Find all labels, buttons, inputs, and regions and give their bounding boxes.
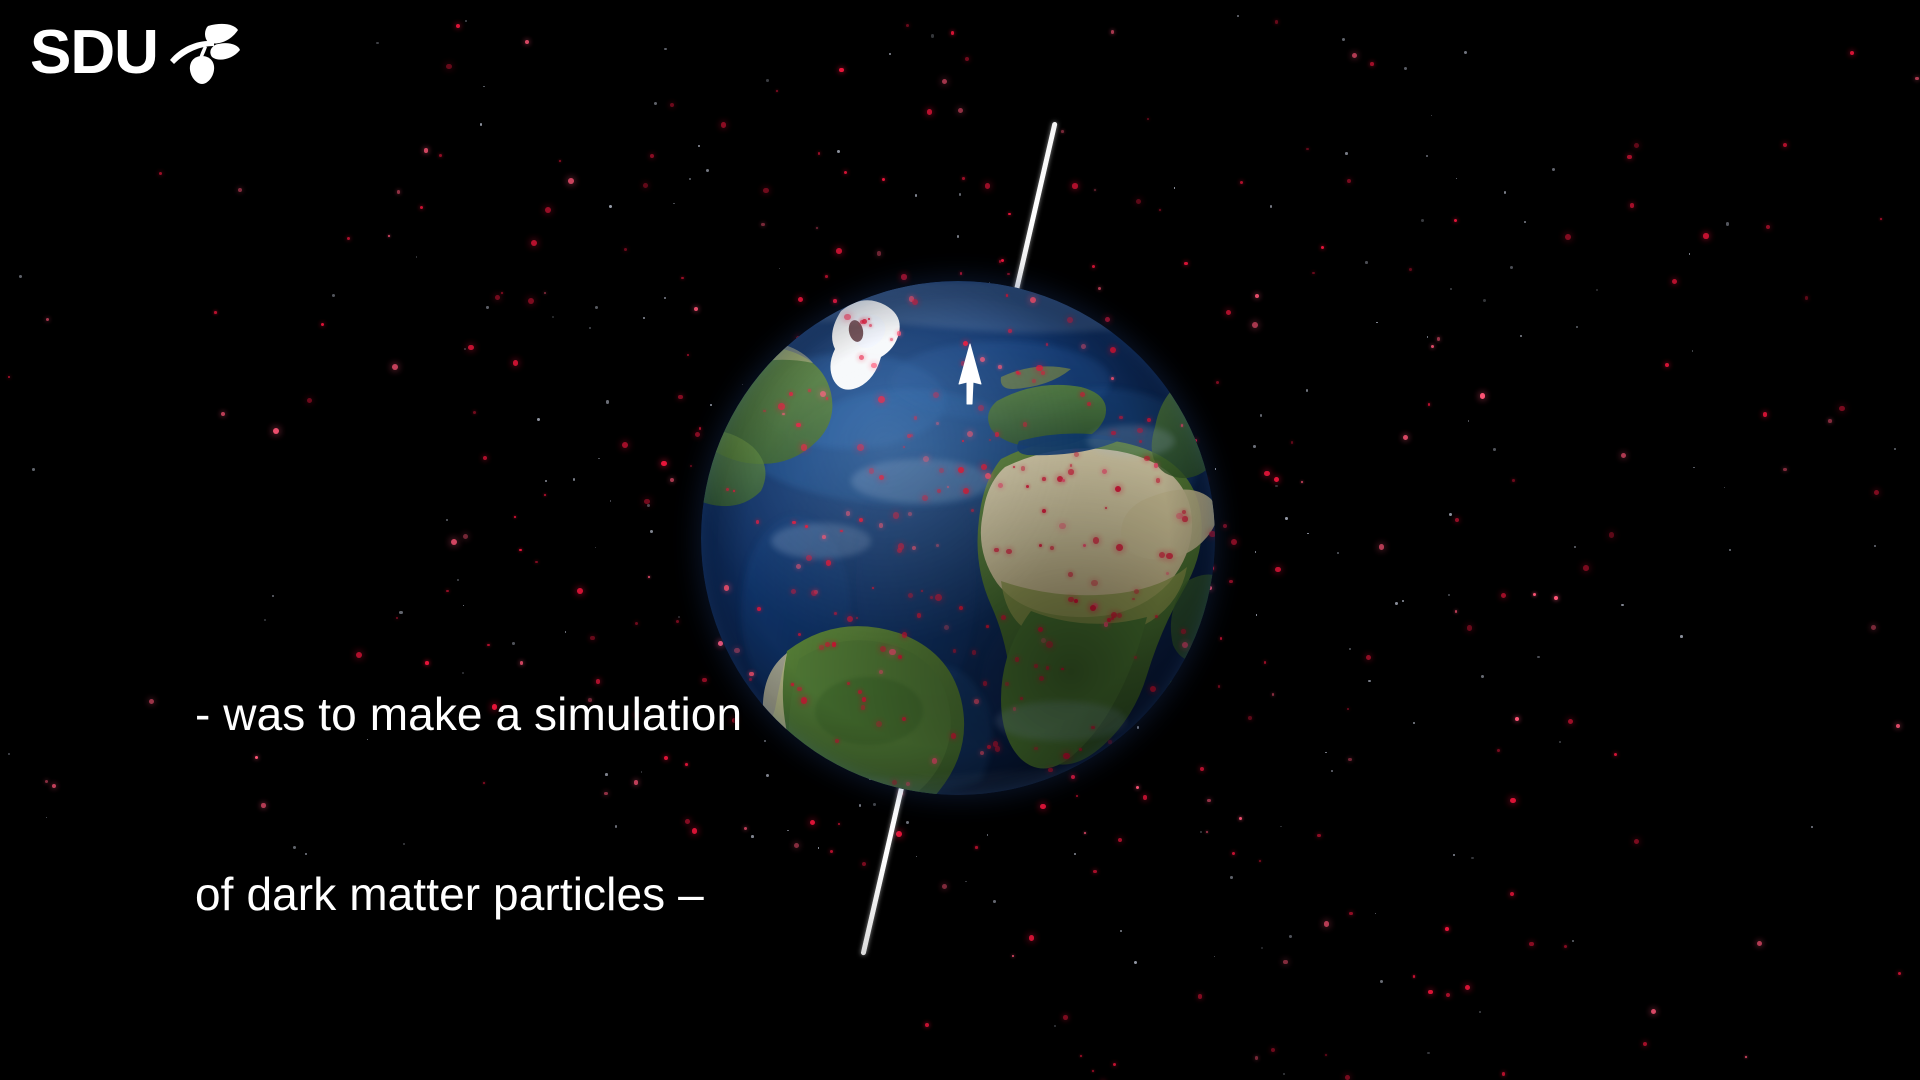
star-dot (332, 294, 335, 297)
star-dot (1552, 168, 1555, 171)
star-dot (1427, 1052, 1429, 1054)
star-dot (664, 48, 667, 51)
dark-matter-particle (388, 235, 390, 237)
dark-matter-particle (1061, 130, 1064, 133)
star-dot (1280, 826, 1282, 828)
star-dot (751, 835, 754, 838)
dark-matter-particle (528, 298, 534, 304)
star-dot (647, 504, 650, 507)
star-dot (376, 42, 379, 45)
dark-matter-particle (1264, 471, 1270, 477)
star-dot (1450, 288, 1452, 290)
dark-matter-particle (962, 177, 965, 180)
star-dot (1453, 854, 1455, 856)
dark-matter-particle (149, 699, 154, 704)
dark-matter-particle (1467, 625, 1472, 630)
star-dot (464, 348, 466, 350)
star-dot (1054, 1025, 1057, 1028)
dark-matter-particle (1763, 412, 1768, 417)
star-dot (1368, 680, 1371, 683)
dark-matter-particle (1630, 203, 1634, 207)
dark-matter-particle (397, 190, 400, 193)
dark-matter-particle (1220, 637, 1223, 640)
star-dot (1413, 722, 1415, 724)
dark-matter-particle (1533, 593, 1536, 596)
dark-matter-particle (1184, 262, 1188, 266)
dark-matter-particle (1008, 213, 1011, 216)
dark-matter-particle (483, 456, 488, 461)
dark-matter-particle (1113, 1063, 1117, 1067)
dark-matter-particle (1301, 481, 1303, 483)
star-dot (664, 297, 666, 299)
star-dot (1376, 322, 1378, 324)
star-dot (1230, 876, 1233, 879)
star-dot (1729, 549, 1731, 551)
dark-matter-particle (1012, 955, 1015, 958)
dark-matter-particle (839, 68, 844, 73)
star-dot (1255, 551, 1256, 552)
star-dot (1402, 600, 1405, 603)
star-dot (1307, 533, 1309, 535)
dark-matter-particle (1347, 708, 1350, 711)
dark-matter-particle (1198, 994, 1202, 998)
dark-matter-particle (1627, 155, 1632, 160)
dark-matter-particle (877, 251, 881, 255)
star-dot (1449, 513, 1452, 516)
dark-matter-particle (975, 846, 977, 848)
dark-matter-particle (1839, 406, 1845, 412)
star-dot (1894, 448, 1896, 450)
dark-matter-particle (473, 411, 476, 414)
dark-matter-particle (1283, 960, 1288, 965)
video-frame: SDU - was to make a simulation of dark m… (0, 0, 1920, 1080)
dark-matter-particle (825, 275, 828, 278)
dark-matter-particle (1111, 30, 1114, 33)
dark-matter-particle (896, 831, 902, 837)
star-dot (965, 881, 967, 883)
dark-matter-particle (307, 398, 312, 403)
dark-matter-particle (844, 171, 848, 175)
dark-matter-particle (643, 183, 648, 188)
dark-matter-particle (1255, 1056, 1259, 1060)
dark-matter-particle (424, 148, 429, 153)
dark-matter-particle (1515, 717, 1519, 721)
dark-matter-particle (1621, 453, 1626, 458)
dark-matter-particle (214, 311, 217, 314)
subtitle-block: - was to make a simulation of dark matte… (195, 566, 742, 1044)
star-dot (1537, 656, 1539, 658)
dark-matter-particle (1231, 539, 1237, 545)
dark-matter-particle (1564, 945, 1567, 948)
star-dot (8, 753, 10, 755)
dark-matter-particle (1502, 1072, 1506, 1076)
star-dot (706, 169, 709, 172)
star-dot (1510, 266, 1513, 269)
star-dot (837, 150, 840, 153)
dark-matter-particle (1379, 544, 1385, 550)
dark-matter-particle (1092, 1070, 1094, 1072)
dark-matter-particle (678, 395, 682, 399)
dark-matter-particle (321, 323, 325, 327)
dark-matter-particle (559, 160, 561, 162)
dark-matter-particle (818, 152, 821, 155)
star-dot (1283, 1073, 1285, 1075)
dark-matter-particle (1271, 1048, 1275, 1052)
star-dot (416, 256, 418, 258)
star-dot (987, 834, 989, 836)
star-dot (1874, 545, 1876, 547)
dark-matter-particle (958, 108, 963, 113)
dark-matter-particle (670, 103, 674, 107)
dark-matter-particle (1143, 795, 1148, 800)
star-dot (1331, 770, 1333, 772)
star-dot (1524, 221, 1526, 223)
dark-matter-particle (891, 824, 893, 826)
dark-matter-particle (1274, 477, 1279, 482)
dark-matter-particle (694, 307, 698, 311)
star-dot (650, 530, 653, 533)
star-dot (609, 205, 612, 208)
star-dot (1395, 602, 1398, 605)
star-dot (1349, 648, 1351, 650)
dark-matter-particle (1259, 860, 1261, 862)
star-dot (1275, 485, 1278, 488)
star-dot (1689, 253, 1691, 255)
dark-matter-particle (1437, 337, 1440, 340)
subtitle-line-1: - was to make a simulation (195, 685, 742, 745)
dark-matter-particle (1529, 942, 1534, 947)
dark-matter-particle (1264, 661, 1267, 664)
dark-matter-particle (721, 122, 726, 127)
dark-matter-particle (535, 561, 538, 564)
dark-matter-particle (1248, 716, 1252, 720)
dark-matter-particle (1232, 852, 1235, 855)
star-dot (1448, 594, 1450, 596)
dark-matter-particle (1510, 798, 1516, 804)
dark-matter-particle (1757, 941, 1762, 946)
dark-matter-particle (882, 178, 885, 181)
dark-matter-particle (927, 109, 932, 114)
star-dot (465, 20, 468, 23)
star-dot (873, 803, 876, 806)
sdu-logo: SDU (30, 22, 240, 84)
star-dot (1337, 552, 1339, 554)
star-dot (689, 178, 691, 180)
dark-matter-particle (347, 237, 350, 240)
dark-matter-particle (238, 188, 242, 192)
dark-matter-particle (1634, 839, 1639, 844)
dark-matter-particle (830, 850, 833, 853)
dark-matter-particle (468, 345, 474, 351)
star-dot (1256, 614, 1258, 616)
dark-matter-particle (1317, 834, 1321, 838)
star-dot (1074, 853, 1076, 855)
star-dot (931, 34, 934, 37)
star-dot (1421, 219, 1424, 222)
star-dot (1693, 467, 1695, 469)
dark-matter-particle (1413, 975, 1415, 977)
dark-matter-particle (1226, 310, 1231, 315)
star-dot (1174, 187, 1175, 188)
star-dot (818, 847, 820, 849)
star-dot (1260, 414, 1262, 416)
dark-matter-particle (1805, 296, 1809, 300)
dark-matter-particle (1275, 20, 1278, 23)
dark-matter-particle (810, 820, 816, 826)
dark-matter-particle (1643, 1042, 1647, 1046)
star-dot (606, 400, 609, 403)
star-dot (1520, 335, 1522, 337)
dark-matter-particle (1871, 625, 1876, 630)
dark-matter-particle (690, 465, 692, 467)
star-dot (859, 804, 862, 807)
star-dot (598, 458, 600, 460)
star-dot (1215, 468, 1217, 470)
dark-matter-particle (1445, 927, 1449, 931)
star-dot (1342, 38, 1345, 41)
dark-matter-particle (1512, 479, 1515, 482)
star-dot (1306, 389, 1309, 392)
dark-matter-particle (1321, 246, 1325, 250)
dark-matter-particle (1218, 685, 1220, 687)
dark-matter-particle (624, 248, 628, 252)
dark-matter-particle (1291, 441, 1294, 444)
star-dot (595, 306, 598, 309)
dark-matter-particle (1480, 393, 1486, 399)
dark-matter-particle (1159, 209, 1161, 211)
dark-matter-particle (1072, 183, 1078, 189)
star-dot (1572, 940, 1575, 943)
dark-matter-particle (456, 24, 461, 29)
dark-matter-particle (1347, 179, 1351, 183)
subtitle-line-2: of dark matter particles – (195, 865, 742, 925)
dark-matter-particle (1614, 753, 1618, 757)
dark-matter-particle (965, 57, 969, 61)
dark-matter-particle (942, 79, 948, 85)
dark-matter-particle (46, 318, 50, 322)
dark-matter-particle (1783, 143, 1787, 147)
dark-matter-particle (1501, 593, 1506, 598)
dark-matter-particle (622, 442, 628, 448)
dark-matter-particle (1324, 921, 1330, 927)
star-dot (1120, 930, 1122, 932)
star-dot (1481, 675, 1484, 678)
dark-matter-particle (1240, 181, 1243, 184)
dark-matter-particle (1898, 972, 1901, 975)
star-dot (906, 821, 909, 824)
dark-matter-particle (273, 428, 279, 434)
dark-matter-particle (1325, 1054, 1327, 1056)
star-dot (1365, 261, 1368, 264)
dark-matter-particle (1403, 435, 1408, 440)
dark-matter-particle (1093, 870, 1097, 874)
dark-matter-particle (1312, 272, 1315, 275)
star-dot (46, 817, 47, 818)
dark-matter-particle (159, 172, 163, 176)
dark-matter-particle (1349, 912, 1353, 916)
star-dot (545, 480, 547, 482)
dark-matter-particle (1063, 1015, 1068, 1020)
dark-matter-particle (862, 862, 867, 867)
dark-matter-particle (1428, 990, 1433, 995)
star-dot (589, 327, 591, 329)
star-dot (32, 468, 35, 471)
dark-matter-particle (1874, 490, 1879, 495)
dark-matter-particle (1828, 419, 1832, 423)
star-dot (1261, 947, 1263, 949)
dark-matter-particle (687, 354, 690, 357)
star-dot (1200, 831, 1202, 833)
star-dot (1692, 350, 1693, 351)
dark-matter-particle (1896, 724, 1900, 728)
dark-matter-particle (439, 154, 442, 157)
dark-matter-particle (1094, 189, 1096, 191)
dark-matter-particle (960, 272, 963, 275)
dark-matter-particle (1207, 799, 1211, 803)
dark-matter-particle (1651, 1009, 1656, 1014)
dark-matter-particle (763, 188, 768, 193)
dark-matter-particle (1118, 838, 1123, 843)
dark-matter-particle (221, 412, 225, 416)
dark-matter-particle (1455, 518, 1459, 522)
star-dot (1431, 115, 1432, 116)
dark-matter-particle (985, 183, 991, 189)
dark-matter-particle (392, 364, 398, 370)
dark-matter-particle (650, 154, 654, 158)
dark-matter-particle (495, 295, 500, 300)
dark-matter-particle (1745, 1056, 1747, 1058)
dark-matter-particle (1497, 749, 1500, 752)
star-dot (1253, 445, 1256, 448)
star-dot (537, 418, 540, 421)
dark-matter-particle (1665, 363, 1669, 367)
dark-matter-particle (1431, 345, 1434, 348)
star-dot (483, 86, 484, 87)
star-dot (957, 235, 960, 238)
star-dot (480, 123, 483, 126)
dark-matter-particle (942, 884, 947, 889)
dark-matter-particle (544, 292, 547, 295)
dark-matter-particle (1007, 273, 1010, 276)
dark-matter-particle (1455, 610, 1457, 612)
star-dot (766, 79, 769, 82)
dark-matter-particle (1583, 565, 1589, 571)
star-dot (1559, 741, 1561, 743)
dark-matter-particle (1136, 199, 1142, 205)
star-dot (1596, 289, 1598, 291)
star-dot (1471, 857, 1474, 860)
star-dot (889, 53, 891, 55)
star-dot (1456, 178, 1457, 179)
dark-matter-particle (816, 227, 818, 229)
star-dot (1270, 205, 1273, 208)
dark-matter-particle (1554, 596, 1558, 600)
dark-matter-particle (1409, 268, 1412, 271)
dark-matter-particle (1766, 225, 1771, 230)
dark-matter-particle (1609, 532, 1615, 538)
dark-matter-particle (1370, 62, 1374, 66)
dark-matter-particle (1076, 795, 1079, 798)
dark-matter-particle (661, 461, 666, 466)
dark-matter-particle (52, 784, 56, 788)
star-dot (1479, 1011, 1481, 1013)
dark-matter-particle (1850, 51, 1855, 56)
dark-matter-particle (1029, 935, 1035, 941)
dark-matter-particle (1239, 817, 1242, 820)
apple-branch-icon (168, 22, 240, 84)
dark-matter-particle (1446, 993, 1450, 997)
dark-matter-particle (1366, 655, 1371, 660)
star-dot (1724, 487, 1725, 488)
star-dot (1576, 326, 1578, 328)
star-dot (446, 519, 449, 522)
star-dot (1468, 420, 1469, 421)
star-dot (1404, 67, 1407, 70)
star-dot (1375, 913, 1377, 915)
star-dot (1237, 15, 1239, 17)
star-dot (1427, 336, 1429, 338)
dark-matter-particle (1672, 279, 1677, 284)
dark-matter-particle (1306, 148, 1308, 150)
star-dot (993, 900, 996, 903)
dark-matter-particle (794, 843, 799, 848)
dark-matter-particle (1040, 804, 1046, 810)
dark-matter-particle (761, 223, 764, 226)
star-dot (1483, 299, 1486, 302)
dark-matter-particle (45, 780, 48, 783)
dark-matter-particle (1229, 580, 1233, 584)
star-dot (654, 102, 657, 105)
star-dot (1285, 517, 1288, 520)
dark-matter-particle (1783, 468, 1786, 471)
dark-matter-particle (1001, 259, 1005, 263)
star-dot (787, 830, 789, 832)
dark-matter-particle (1348, 758, 1352, 762)
sdu-wordmark: SDU (30, 22, 158, 84)
dark-matter-particle (513, 360, 519, 366)
dark-matter-particle (8, 376, 11, 379)
star-dot (1574, 546, 1576, 548)
star-dot (1134, 961, 1137, 964)
dark-matter-particle (545, 207, 551, 213)
star-dot (1726, 222, 1729, 225)
dark-matter-particle (531, 240, 537, 246)
dark-matter-particle (1428, 403, 1431, 406)
dark-matter-particle (1345, 1075, 1350, 1080)
dark-matter-particle (1275, 567, 1281, 573)
dark-matter-particle (1216, 381, 1219, 384)
dark-matter-particle (695, 432, 700, 437)
dark-matter-particle (1565, 234, 1571, 240)
dark-matter-particle (1080, 1055, 1082, 1057)
dark-matter-particle (1880, 218, 1882, 220)
dark-matter-particle (1703, 233, 1708, 238)
star-dot (1426, 155, 1428, 157)
star-dot (1289, 935, 1292, 938)
dark-matter-particle (1568, 719, 1573, 724)
dark-matter-particle (420, 206, 423, 209)
dark-matter-particle (1915, 77, 1919, 81)
earth-globe (701, 281, 1215, 795)
star-dot (1380, 980, 1383, 983)
dark-matter-particle (1147, 118, 1149, 120)
star-dot (1214, 956, 1216, 958)
dark-matter-particle (1084, 832, 1086, 834)
dark-matter-particle (501, 292, 503, 294)
star-dot (1325, 752, 1326, 753)
dark-matter-particle (1206, 831, 1208, 833)
dark-matter-particle (925, 1023, 929, 1027)
